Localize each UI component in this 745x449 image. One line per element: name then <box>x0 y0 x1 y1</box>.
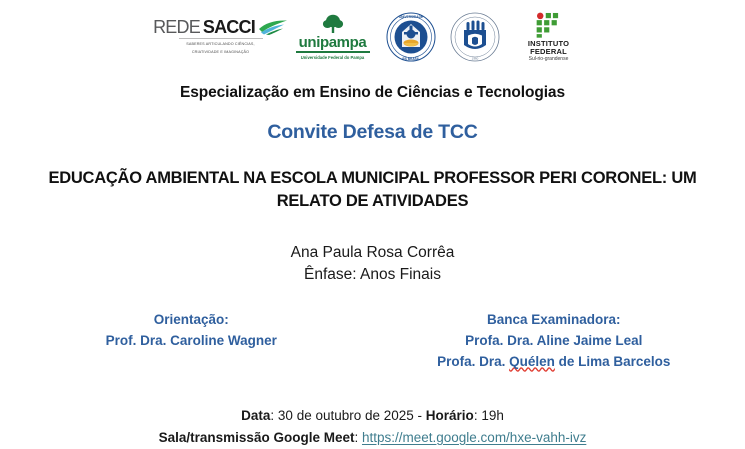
committee-member: Profa. Dra. Quélen de Lima Barcelos <box>373 352 736 373</box>
instituto-federal-name: INSTITUTO FEDERAL <box>528 40 569 56</box>
advising-heading: Orientação: <box>10 310 373 331</box>
room-separator: : <box>354 430 362 445</box>
advisor-name: Prof. Dra. Caroline Wagner <box>10 331 373 352</box>
page-title: Convite Defesa de TCC <box>0 121 745 144</box>
logo-rede-sacci: REDESACCI SABERES ARTICULANDO CIÊNCIAS, … <box>162 18 280 55</box>
svg-text:RS BRASIL: RS BRASIL <box>402 57 419 61</box>
room-label: Sala/transmissão Google Meet <box>159 430 355 445</box>
logo-ufpel: UNIVERSIDADE RS BRASIL <box>386 12 436 62</box>
rede-sacci-wordmark: REDESACCI <box>153 18 288 36</box>
committee-member-prefix: Profa. Dra. <box>437 354 509 369</box>
instituto-federal-line2: FEDERAL <box>530 47 567 56</box>
tree-icon <box>321 14 345 34</box>
rede-sacci-subtitle-line2: CRIATIVIDADE E IMAGINAÇÃO <box>192 50 249 56</box>
author-name: Ana Paula Rosa Corrêa <box>0 242 745 264</box>
meet-line: Sala/transmissão Google Meet: https://me… <box>0 427 745 449</box>
rede-sacci-divider <box>179 38 263 39</box>
date-value: : 30 de outubro de 2025 - <box>270 408 425 423</box>
instituto-federal-subtitle: Sul-rio-grandense <box>529 56 569 62</box>
rede-sacci-word-sacci: SACCI <box>203 18 255 36</box>
google-meet-link[interactable]: https://meet.google.com/hxe-vahh-ivz <box>362 430 586 445</box>
instituto-federal-mark-icon <box>536 12 562 38</box>
logo-instituto-federal: INSTITUTO FEDERAL Sul-rio-grandense <box>514 12 584 63</box>
svg-text:UNIVERSIDADE: UNIVERSIDADE <box>398 15 422 19</box>
date-label: Data <box>241 408 270 423</box>
unipampa-wordmark: unipampa <box>299 35 367 50</box>
swoosh-icon <box>258 19 288 35</box>
committee-member: Profa. Dra. Aline Jaime Leal <box>373 331 736 352</box>
participants-panels: Orientação: Prof. Dra. Caroline Wagner B… <box>0 310 745 373</box>
advising-panel: Orientação: Prof. Dra. Caroline Wagner <box>0 310 373 373</box>
ufpel-seal-icon: UNIVERSIDADE RS BRASIL <box>386 12 436 62</box>
time-label: Horário <box>426 408 474 423</box>
author-emphasis: Ênfase: Anos Finais <box>0 264 745 286</box>
logo-strip: REDESACCI SABERES ARTICULANDO CIÊNCIAS, … <box>0 0 745 62</box>
committee-heading: Banca Examinadora: <box>373 310 736 331</box>
logo-ufsm: 1960 <box>450 12 500 62</box>
rede-sacci-subtitle-line1: SABERES ARTICULANDO CIÊNCIAS, <box>186 42 254 48</box>
date-time-line: Data: 30 de outubro de 2025 - Horário: 1… <box>0 405 745 427</box>
committee-panel: Banca Examinadora: Profa. Dra. Aline Jai… <box>373 310 745 373</box>
program-name: Especialização em Ensino de Ciências e T… <box>0 84 745 102</box>
committee-member-name: de Lima Barcelos <box>555 354 671 369</box>
committee-member-name-flagged: Quélen <box>509 354 555 369</box>
logo-unipampa: unipampa Universidade Federal do Pampa <box>294 14 372 60</box>
svg-text:1960: 1960 <box>471 57 478 61</box>
ufsm-seal-icon: 1960 <box>450 12 500 62</box>
event-details: Data: 30 de outubro de 2025 - Horário: 1… <box>0 405 745 449</box>
committee-member-name: Aline Jaime Leal <box>537 333 643 348</box>
time-value: : 19h <box>474 408 504 423</box>
rede-sacci-word-rede: REDE <box>153 18 200 36</box>
thesis-title: EDUCAÇÃO AMBIENTAL NA ESCOLA MUNICIPAL P… <box>33 167 713 214</box>
committee-member-prefix: Profa. Dra. <box>465 333 537 348</box>
unipampa-rule <box>296 51 370 53</box>
author-block: Ana Paula Rosa Corrêa Ênfase: Anos Finai… <box>0 242 745 286</box>
unipampa-subtitle: Universidade Federal do Pampa <box>301 55 365 60</box>
